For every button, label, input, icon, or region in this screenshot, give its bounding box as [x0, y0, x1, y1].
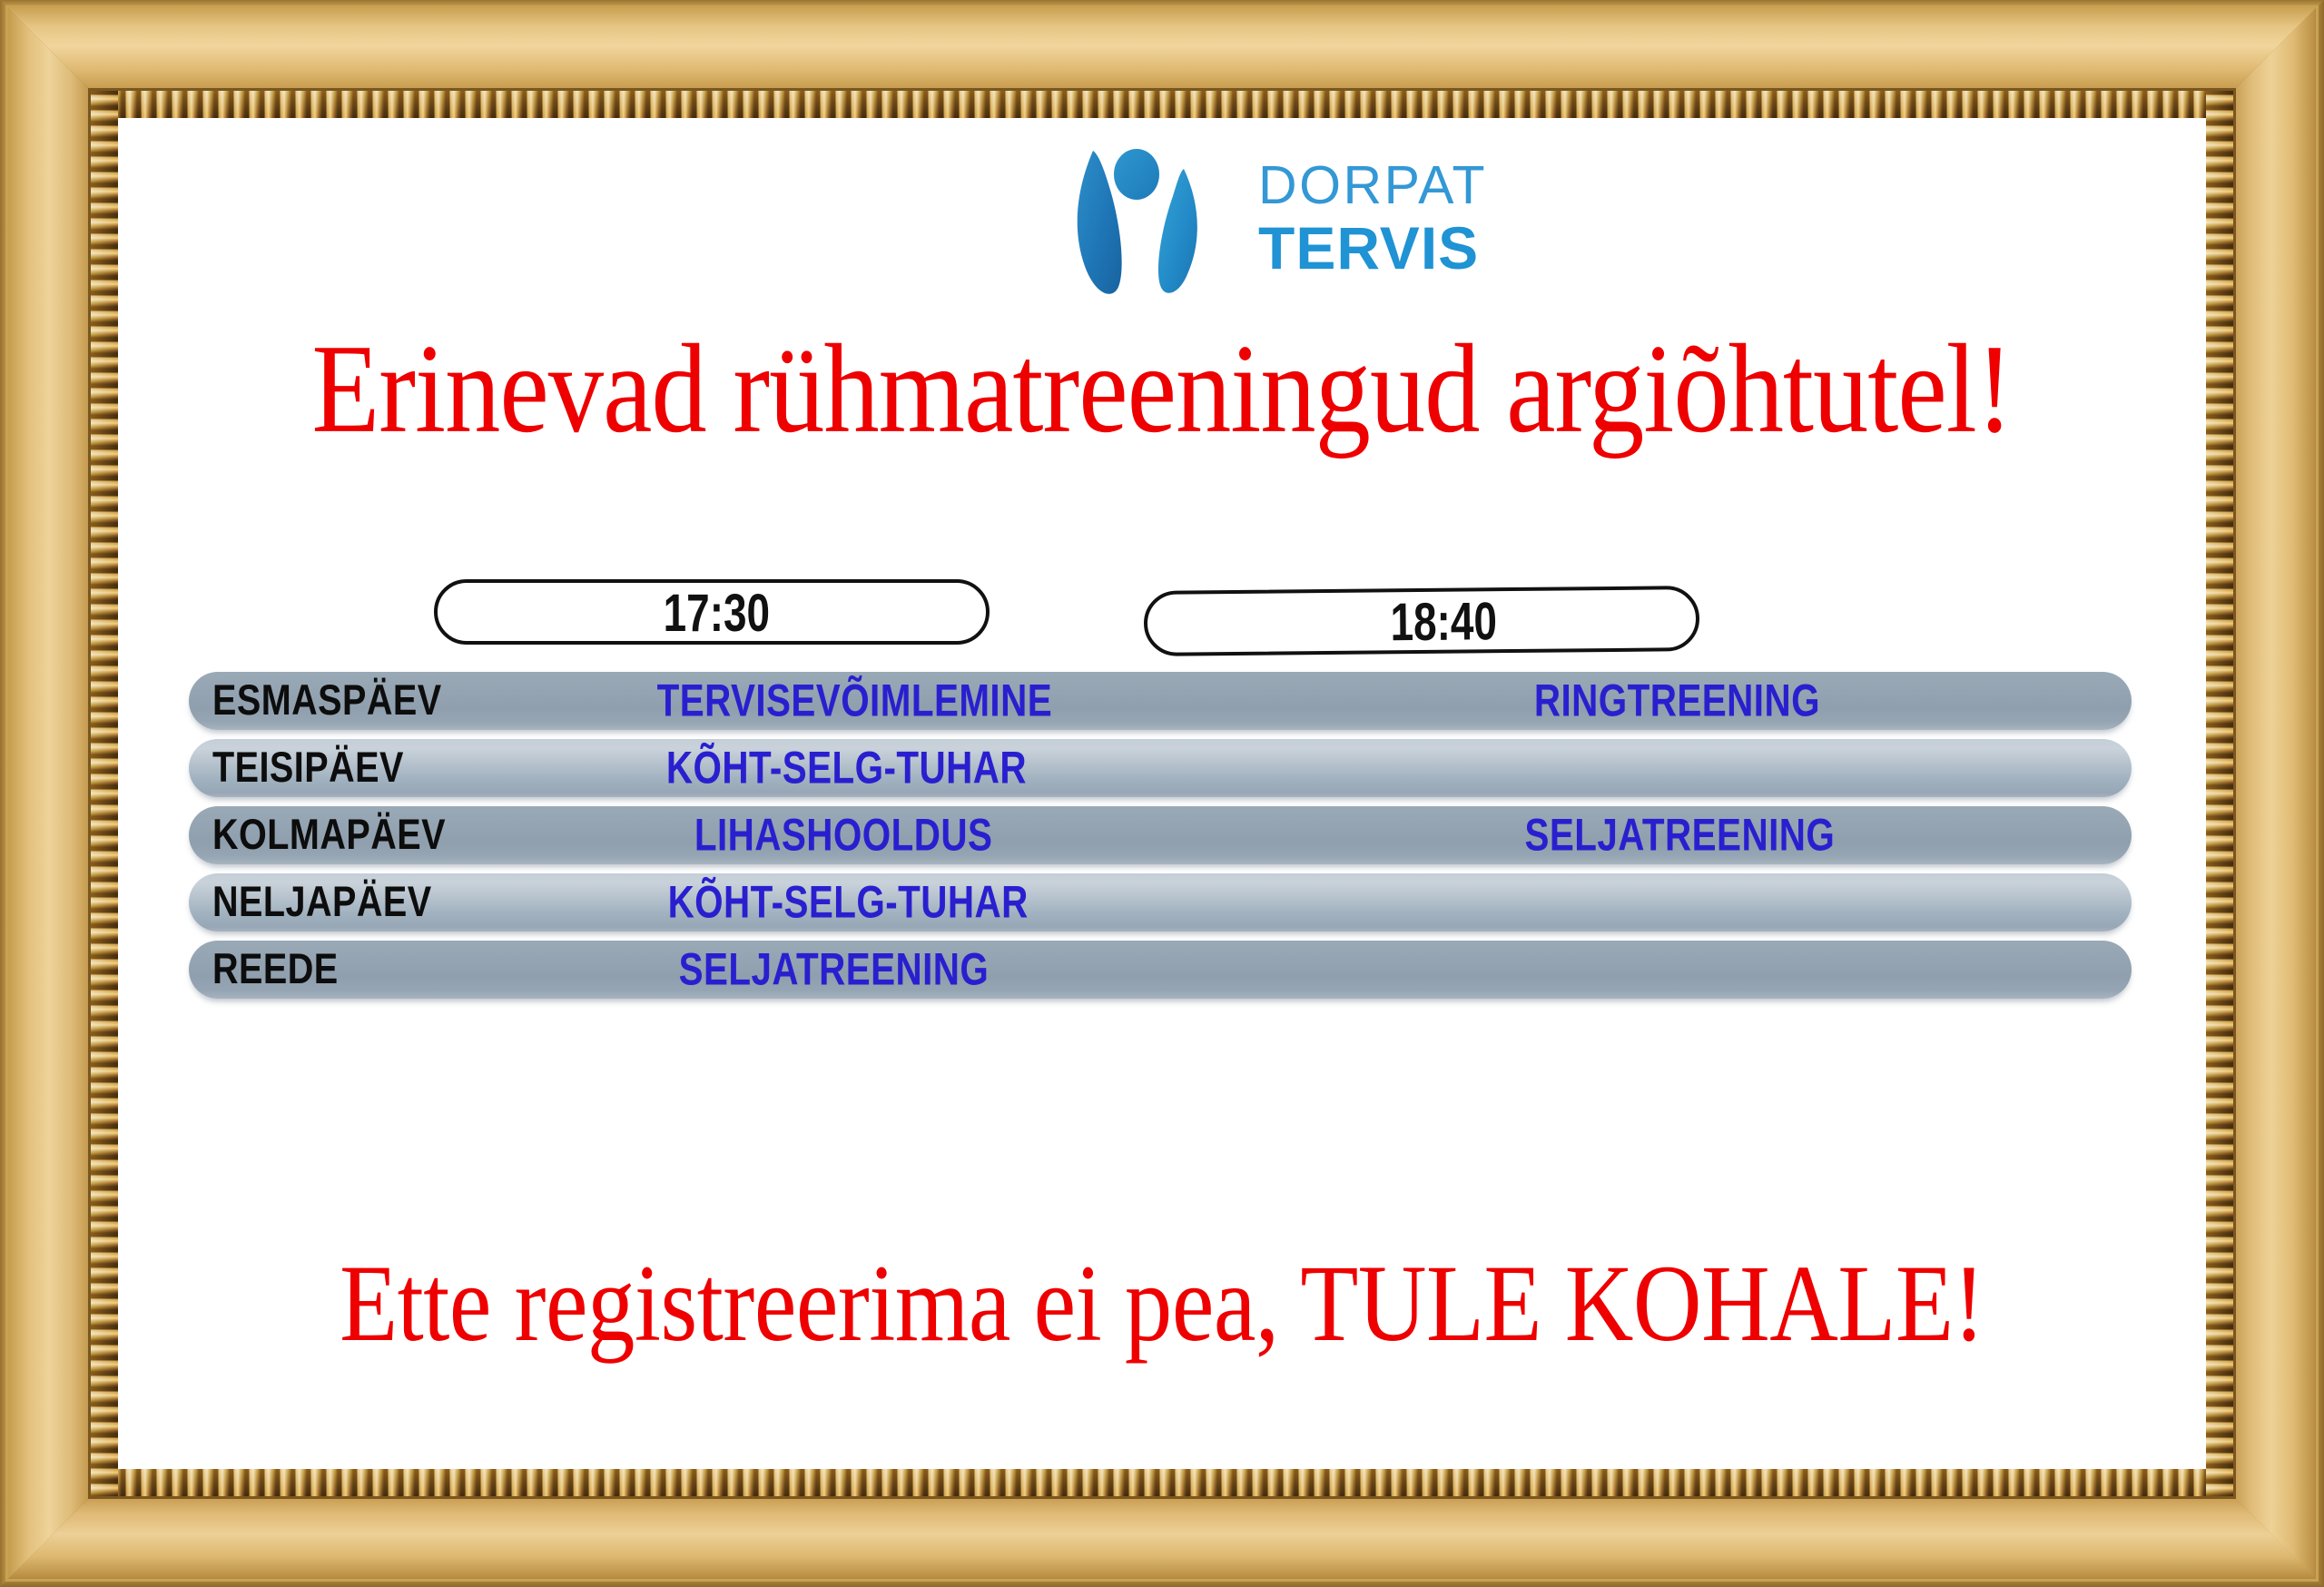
table-row: REEDE SELJATREENING	[189, 941, 2132, 999]
frame-right-rail	[2222, 0, 2324, 1587]
time-column-header-1730: 17:30	[434, 579, 990, 645]
table-row: KOLMAPÄEV LIHASHOOLDUS SELJATREENING	[189, 806, 2132, 864]
day-label-friday: REEDE	[212, 943, 339, 993]
frame-bottom-rail	[0, 1485, 2324, 1587]
table-row: ESMASPÄEV TERVISEVÕIMLEMINE RINGTREENING	[189, 672, 2132, 730]
frame-bead-strip-left	[91, 91, 118, 1496]
gold-picture-frame: DORPAT TERVIS Erinevad rühmatreeningud a…	[0, 0, 2324, 1587]
frame-bead-strip-right	[2206, 91, 2233, 1496]
class-monday-1840: RINGTREENING	[1251, 675, 2050, 724]
day-label-wednesday: KOLMAPÄEV	[212, 809, 446, 859]
time-label-1840: 18:40	[1345, 589, 1497, 653]
person-figure-icon	[1053, 136, 1235, 300]
class-monday-1730: TERVISEVÕIMLEMINE	[497, 675, 1224, 724]
poster-canvas: DORPAT TERVIS Erinevad rühmatreeningud a…	[118, 118, 2206, 1469]
logo-wordmark: DORPAT TERVIS	[1258, 159, 1487, 278]
weekly-schedule-table: ESMASPÄEV TERVISEVÕIMLEMINE RINGTREENING…	[189, 672, 2132, 1008]
frame-top-rail	[0, 0, 2324, 102]
logo-word-tervis: TERVIS	[1258, 218, 1487, 278]
class-thursday-1730: KÕHT-SELG-TUHAR	[497, 876, 1224, 926]
table-row: NELJAPÄEV KÕHT-SELG-TUHAR	[189, 873, 2132, 931]
poster-headline: Erinevad rühmatreeningud argiõhtutel!	[139, 317, 2185, 462]
dorpat-tervis-logo: DORPAT TERVIS	[1053, 136, 1543, 300]
table-row: TEISIPÄEV KÕHT-SELG-TUHAR	[189, 739, 2132, 797]
poster-footer-note: Ette registreerima ei pea, TULE KOHALE!	[150, 1242, 2175, 1368]
day-label-monday: ESMASPÄEV	[212, 675, 442, 724]
frame-left-rail	[0, 0, 102, 1587]
class-tuesday-1730: KÕHT-SELG-TUHAR	[497, 742, 1224, 792]
class-friday-1730: SELJATREENING	[497, 943, 1224, 993]
day-label-thursday: NELJAPÄEV	[212, 876, 432, 926]
frame-bead-strip-top	[91, 91, 2233, 118]
day-label-tuesday: TEISIPÄEV	[212, 742, 404, 792]
class-wednesday-1840: SELJATREENING	[1251, 809, 2050, 859]
logo-word-dorpat: DORPAT	[1258, 159, 1487, 212]
time-label-1730: 17:30	[654, 581, 771, 643]
frame-bead-strip-bottom	[91, 1469, 2233, 1496]
time-column-header-1840: 18:40	[1144, 586, 1700, 656]
class-wednesday-1730: LIHASHOOLDUS	[497, 809, 1224, 859]
